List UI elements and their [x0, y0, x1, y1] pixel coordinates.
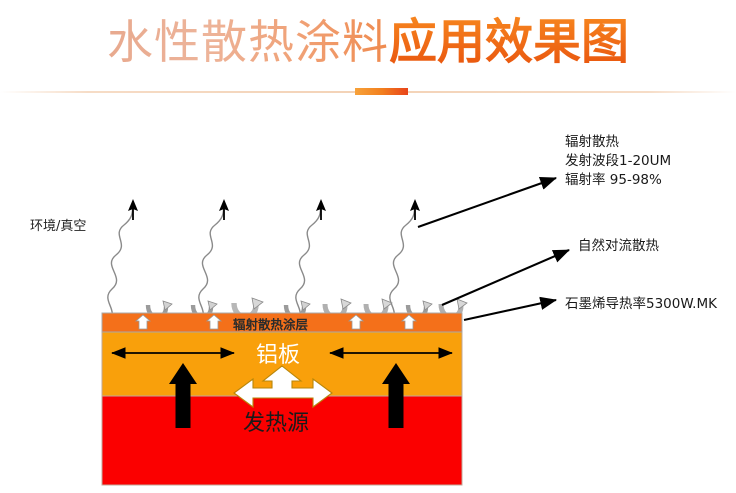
annotation-graphene-line-1: 石墨烯导热率5300W.MK — [565, 295, 717, 314]
annotation-radiative: 辐射散热 发射波段1-20UM 辐射率 95-98% — [565, 133, 671, 190]
layer-label-aluminum: 铝板 — [256, 337, 300, 369]
leader-line-radiative — [418, 178, 556, 227]
header-divider-accent — [355, 88, 408, 95]
title-bold-part: 应用效果图 — [389, 14, 629, 70]
radiation-arrow-1 — [128, 199, 138, 220]
page-header: 水性散热涂料应用效果图 — [0, 0, 736, 105]
layer-label-coating: 辐射散热涂层 — [233, 314, 308, 333]
layer-label-heat-source: 发热源 — [243, 405, 309, 437]
leader-line-convection — [442, 250, 569, 305]
radiation-arrow-3 — [316, 199, 326, 220]
radiation-wave-group — [107, 205, 415, 323]
page-root: 水性散热涂料应用效果图 — [0, 0, 736, 493]
radiation-wave-1 — [107, 205, 133, 323]
environment-label: 环境/真空 — [30, 218, 86, 235]
annotation-convection: 自然对流散热 — [578, 237, 659, 256]
annotation-graphene: 石墨烯导热率5300W.MK — [565, 295, 717, 314]
radiation-arrow-4 — [410, 199, 420, 220]
leader-line-graphene — [464, 300, 556, 320]
annotation-radiative-line-1: 辐射散热 — [565, 133, 671, 152]
radiation-arrow-2 — [219, 199, 229, 220]
radiation-wave-4 — [389, 205, 415, 323]
radiation-wave-arrowheads — [128, 199, 420, 220]
annotation-convection-line-1: 自然对流散热 — [578, 237, 659, 256]
page-title: 水性散热涂料应用效果图 — [0, 18, 736, 66]
annotation-radiative-line-2: 发射波段1-20UM — [565, 152, 671, 171]
diagram-area: 环境/真空 辐射散热 发射波段1-20UM 辐射率 95-98% 自然对流散热 … — [0, 105, 736, 493]
leader-line-group — [418, 178, 569, 320]
annotation-radiative-line-3: 辐射率 95-98% — [565, 171, 671, 190]
title-light-part: 水性散热涂料 — [107, 15, 389, 69]
